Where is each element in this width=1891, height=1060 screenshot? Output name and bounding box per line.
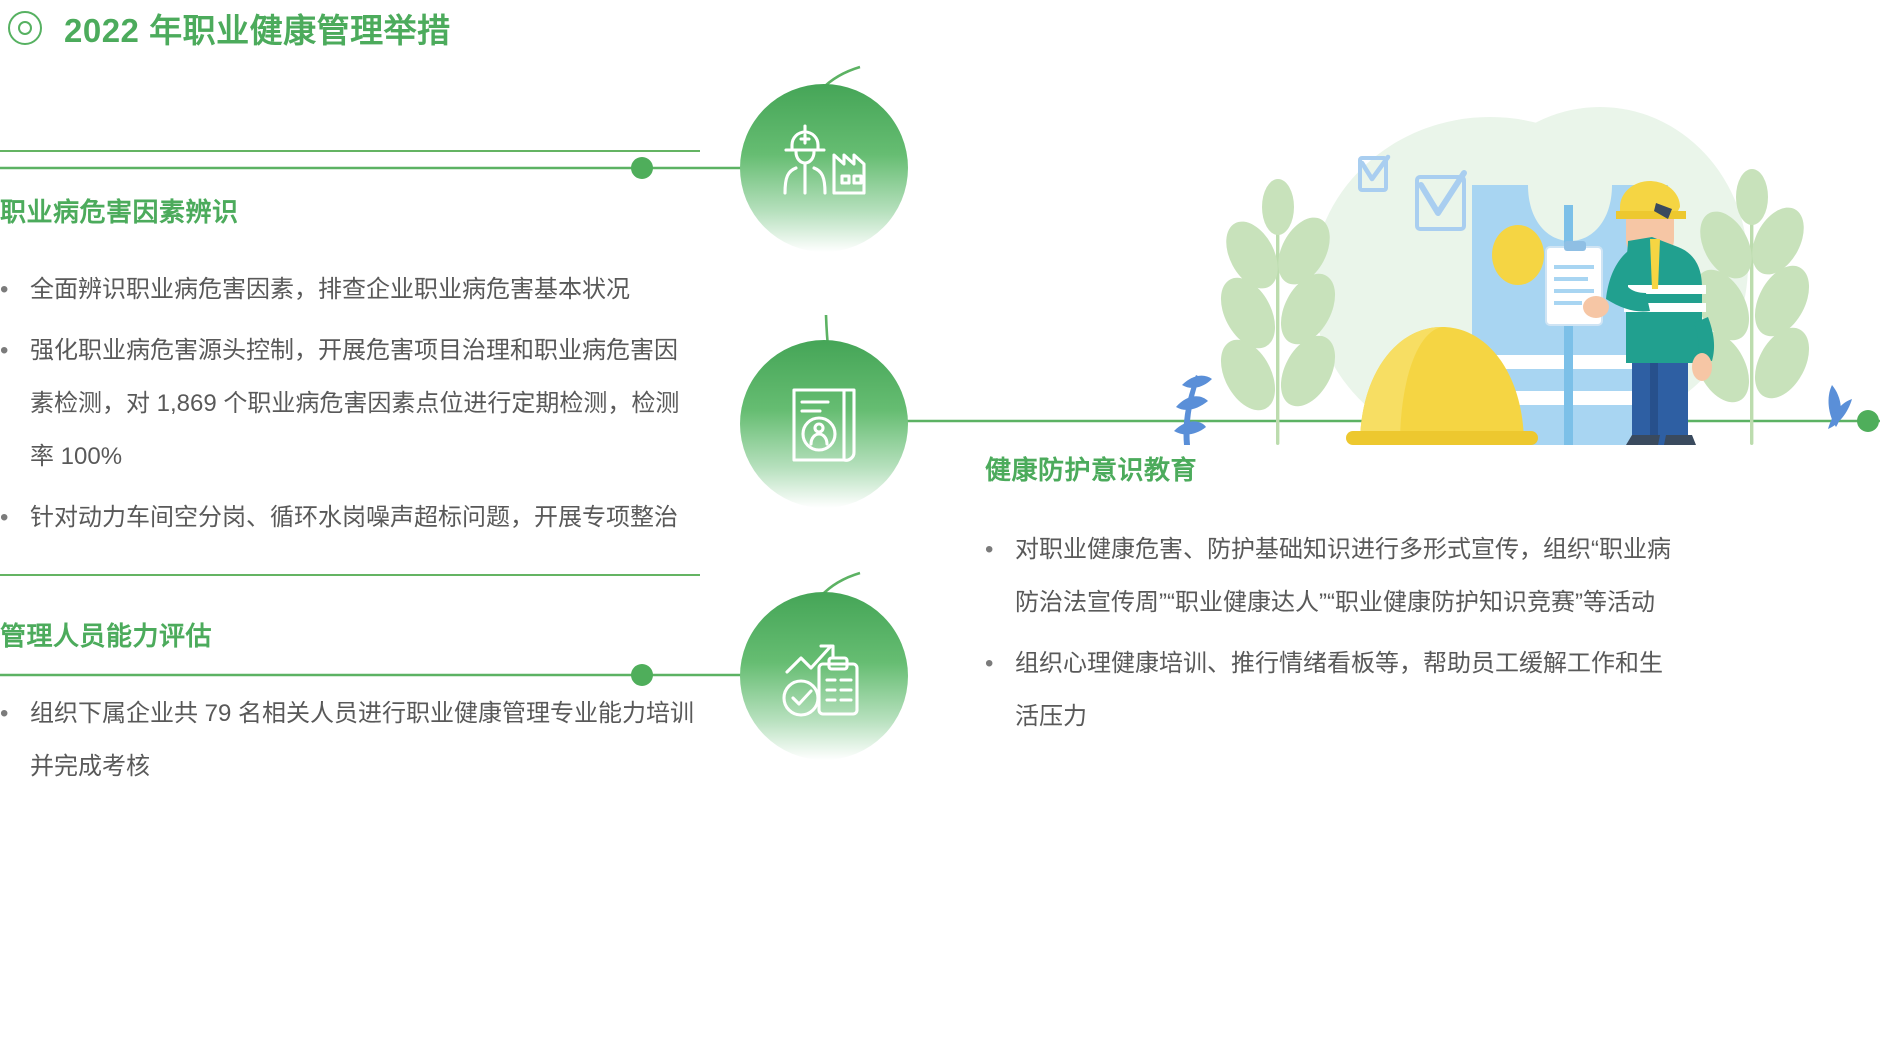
slide-root: 2022 年职业健康管理举措: [0, 0, 1891, 1060]
badge-worker-factory[interactable]: [740, 84, 908, 252]
list-item: • 组织心理健康培训、推行情绪看板等，帮助员工缓解工作和生活压力: [985, 637, 1685, 743]
blue-sprig: [1174, 375, 1212, 445]
badge-document-health[interactable]: [740, 340, 908, 508]
worker-factory-icon: [772, 122, 876, 214]
bullet-list-manager-capability: • 组织下属企业共 79 名相关人员进行职业健康管理专业能力培训并完成考核: [0, 687, 700, 793]
list-item-text: 对职业健康危害、防护基础知识进行多形式宣传，组织“职业病防治法宣传周”“职业健康…: [1015, 523, 1685, 629]
bullet-glyph: •: [985, 637, 1015, 690]
chart-clipboard-check-icon: [775, 628, 873, 724]
page-title: 2022 年职业健康管理举措: [8, 0, 451, 56]
badge-chart-clipboard-check[interactable]: [740, 592, 908, 760]
bullet-glyph: •: [985, 523, 1015, 576]
bullet-glyph: •: [0, 687, 30, 740]
list-item: • 对职业健康危害、防护基础知识进行多形式宣传，组织“职业病防治法宣传周”“职业…: [985, 523, 1685, 629]
list-item-text: 针对动力车间空分岗、循环水岗噪声超标问题，开展专项整治: [30, 491, 700, 544]
list-item-text: 组织下属企业共 79 名相关人员进行职业健康管理专业能力培训并完成考核: [30, 687, 700, 793]
list-item: • 全面辨识职业病危害因素，排查企业职业病危害基本状况: [0, 263, 700, 316]
section-heading-health-education: 健康防护意识教育: [985, 450, 1685, 487]
list-item: • 针对动力车间空分岗、循环水岗噪声超标问题，开展专项整治: [0, 491, 700, 544]
target-circle-icon: [8, 11, 42, 45]
left-column: 职业病危害因素辨识 • 全面辨识职业病危害因素，排查企业职业病危害基本状况 • …: [0, 150, 700, 801]
list-item-text: 强化职业病危害源头控制，开展危害项目治理和职业病危害因素检测，对 1,869 个…: [30, 324, 700, 483]
bullet-list-health-education: • 对职业健康危害、防护基础知识进行多形式宣传，组织“职业病防治法宣传周”“职业…: [985, 523, 1685, 743]
right-column: 健康防护意识教育 • 对职业健康危害、防护基础知识进行多形式宣传，组织“职业病防…: [985, 450, 1685, 751]
list-item-text: 组织心理健康培训、推行情绪看板等，帮助员工缓解工作和生活压力: [1015, 637, 1685, 743]
occupational-health-worker-illustration: [960, 55, 1891, 445]
list-item-text: 全面辨识职业病危害因素，排查企业职业病危害基本状况: [30, 263, 700, 316]
blue-sprig-right: [1828, 385, 1852, 429]
document-health-icon: [778, 376, 870, 472]
bullet-glyph: •: [0, 324, 30, 377]
list-item: • 强化职业病危害源头控制，开展危害项目治理和职业病危害因素检测，对 1,869…: [0, 324, 700, 483]
bullet-list-hazard-identification: • 全面辨识职业病危害因素，排查企业职业病危害基本状况 • 强化职业病危害源头控…: [0, 263, 700, 544]
list-item: • 组织下属企业共 79 名相关人员进行职业健康管理专业能力培训并完成考核: [0, 687, 700, 793]
section-heading-hazard-identification: 职业病危害因素辨识: [0, 192, 700, 229]
bullet-glyph: •: [0, 491, 30, 544]
page-title-text: 2022 年职业健康管理举措: [64, 4, 451, 52]
bullet-glyph: •: [0, 263, 30, 316]
section-heading-manager-capability: 管理人员能力评估: [0, 616, 700, 653]
